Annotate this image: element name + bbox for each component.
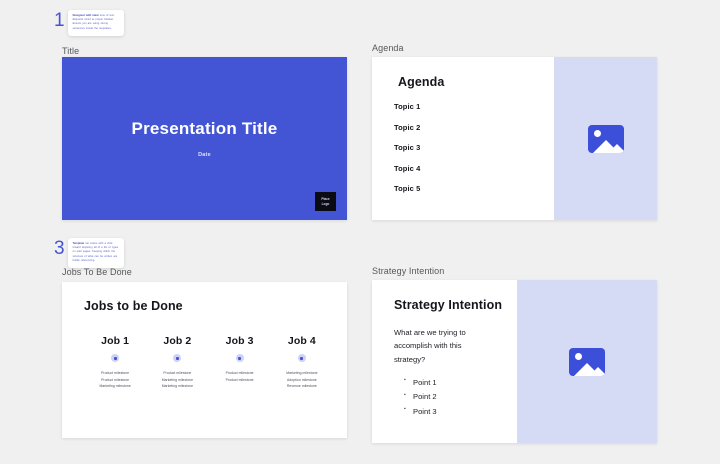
job-marker-icon [111,354,119,362]
image-icon-sun [575,353,582,360]
image-icon-mountain-small [589,367,605,376]
job-marker-icon [173,354,181,362]
job-milestone-list: Product milestone Product milestone [211,370,269,383]
agenda-heading: Agenda [394,75,554,89]
list-item: Marketing milestone [148,377,206,384]
slide-number-3: 3 [54,239,65,258]
image-placeholder-icon [588,125,624,153]
strategy-text-pane: Strategy Intention What are we trying to… [372,280,517,443]
agenda-image-pane[interactable] [554,57,657,220]
list-item[interactable]: Topic 5 [394,184,554,193]
list-item: Marketing milestone [86,383,144,390]
job-column[interactable]: Job 2 Product milestone Marketing milest… [146,335,208,390]
list-item: Marketing milestone [148,383,206,390]
annotation-bubble-3: Template set colors with a click toward … [68,238,124,268]
list-item: Point 3 [413,407,517,416]
list-item[interactable]: Topic 3 [394,143,554,152]
slide-card-agenda[interactable]: Agenda Topic 1 Topic 2 Topic 3 Topic 4 T… [372,57,657,220]
list-item: Point 1 [413,378,517,387]
job-milestone-list: Product milestone Product milestone Mark… [86,370,144,390]
slide-block-strategy[interactable]: Strategy Intention Strategy Intention Wh… [372,266,444,276]
slide-block-agenda[interactable]: Agenda Agenda Topic 1 Topic 2 Topic 3 To… [372,43,404,53]
image-icon-sun [594,130,601,137]
agenda-text-pane: Agenda Topic 1 Topic 2 Topic 3 Topic 4 T… [372,57,554,220]
job-column[interactable]: Job 3 Product milestone Product mileston… [209,335,271,390]
job-column[interactable]: Job 4 Marketing milestone Adoption miles… [271,335,333,390]
list-item: Product milestone [86,377,144,384]
slide-annotation-1: 1 Designed with ideal tone of text. Etiq… [54,10,124,36]
list-item: Revenue milestone [273,383,331,390]
slide-caption-title: Title [62,46,79,56]
slide-card-title[interactable]: Presentation Title Date Place Logo [62,57,347,220]
slide-card-strategy[interactable]: Strategy Intention What are we trying to… [372,280,657,443]
jobs-heading: Jobs to be Done [84,299,347,313]
logo-line-2: Logo [322,202,330,207]
logo-placeholder: Place Logo [315,192,336,211]
list-item[interactable]: Topic 4 [394,164,554,173]
jobs-columns: Job 1 Product milestone Product mileston… [84,335,347,390]
job-marker-icon [236,354,244,362]
slide-number-1: 1 [54,11,65,30]
image-placeholder-icon [569,348,605,376]
annotation-bubble-1: Designed with ideal tone of text. Etique… [68,10,124,36]
list-item: Adoption milestone [273,377,331,384]
job-title: Job 3 [211,335,269,347]
list-item: Marketing milestone [273,370,331,377]
slide-caption-jobs: Jobs To Be Done [62,267,132,277]
presentation-title: Presentation Title [132,119,278,139]
slide-caption-agenda: Agenda [372,43,404,53]
list-item: Product milestone [148,370,206,377]
list-item[interactable]: Topic 2 [394,123,554,132]
strategy-point-list: Point 1 Point 2 Point 3 [404,378,517,416]
list-item: Product milestone [211,377,269,384]
strategy-body-text: What are we trying to accomplish with th… [394,326,480,366]
list-item[interactable]: Topic 1 [394,102,554,111]
annotation-bubble-text-1: Designed with ideal tone of text. Etique… [73,14,119,31]
slide-annotation-3: 3 Template set colors with a click towar… [54,238,124,268]
slide-caption-strategy: Strategy Intention [372,266,444,276]
image-icon-mountain-small [608,144,624,153]
strategy-heading: Strategy Intention [394,298,517,312]
job-title: Job 2 [148,335,206,347]
slide-card-jobs[interactable]: Jobs to be Done Job 1 Product milestone … [62,282,347,438]
annotation-bubble-text-3: Template set colors with a click toward … [73,242,119,263]
job-column[interactable]: Job 1 Product milestone Product mileston… [84,335,146,390]
list-item: Product milestone [86,370,144,377]
agenda-topic-list: Topic 1 Topic 2 Topic 3 Topic 4 Topic 5 [394,102,554,193]
job-milestone-list: Product milestone Marketing milestone Ma… [148,370,206,390]
job-title: Job 1 [86,335,144,347]
job-title: Job 4 [273,335,331,347]
presentation-date: Date [198,152,211,158]
slide-deck-canvas: 1 Designed with ideal tone of text. Etiq… [0,0,720,464]
list-item: Product milestone [211,370,269,377]
strategy-image-pane[interactable] [517,280,657,443]
job-milestone-list: Marketing milestone Adoption milestone R… [273,370,331,390]
job-marker-icon [298,354,306,362]
list-item: Point 2 [413,392,517,401]
